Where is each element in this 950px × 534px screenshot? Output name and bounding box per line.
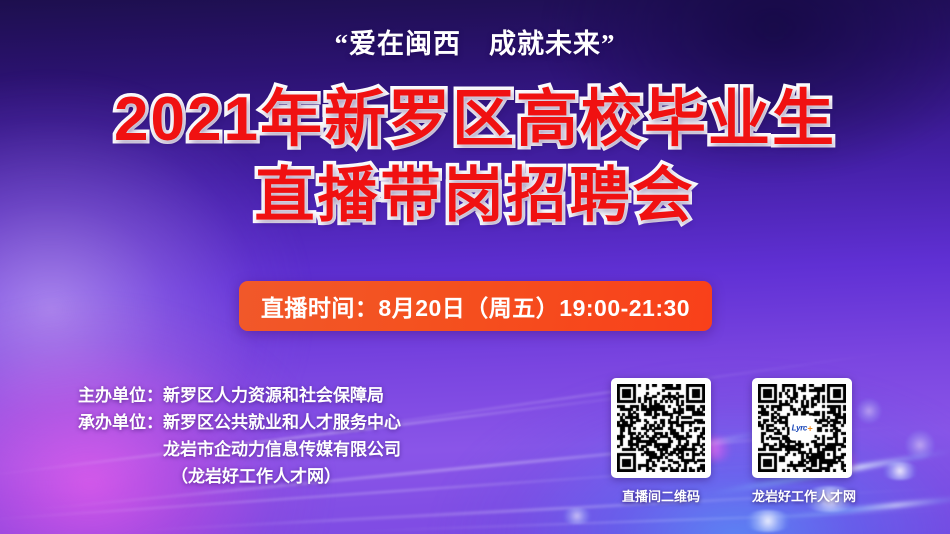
organizer-info: 主办单位：新罗区人力资源和社会保障局 承办单位：新罗区公共就业和人才服务中心 龙…	[78, 382, 401, 490]
poster-title-line-2: 直播带岗招聘会	[0, 158, 950, 234]
organizer-line-website: （龙岩好工作人才网）	[78, 463, 401, 490]
broadcast-time-banner: 直播时间：8月20日（周五）19:00-21:30	[239, 281, 712, 331]
qr-logo-text: Lyrc	[792, 424, 807, 433]
qr-code-image-jobsite[interactable]: Lyrc+	[752, 378, 852, 478]
organizer-line-host: 主办单位：新罗区人力资源和社会保障局	[78, 382, 401, 409]
qr-code-livestream[interactable]: 直播间二维码	[611, 378, 711, 505]
qr-center-logo-icon: Lyrc+	[791, 417, 814, 440]
qr-caption-jobsite: 龙岩好工作人才网	[752, 486, 852, 505]
qr-code-pattern	[617, 384, 705, 472]
qr-logo-dot: +	[807, 423, 812, 433]
organizer-line-company: 龙岩市企动力信息传媒有限公司	[78, 436, 401, 463]
organizer-line-coordinator: 承办单位：新罗区公共就业和人才服务中心	[78, 409, 401, 436]
qr-code-group: 直播间二维码 Lyrc+ 龙岩好工作人才网	[611, 378, 852, 505]
poster-canvas: “爱在闽西 成就未来” 2021年新罗区高校毕业生 直播带岗招聘会 直播时间：8…	[0, 0, 950, 534]
poster-title: 2021年新罗区高校毕业生 直播带岗招聘会	[0, 82, 950, 234]
qr-caption-livestream: 直播间二维码	[611, 486, 711, 505]
qr-code-image-livestream[interactable]	[611, 378, 711, 478]
poster-subtitle: “爱在闽西 成就未来”	[0, 22, 950, 61]
poster-title-line-1: 2021年新罗区高校毕业生	[0, 82, 950, 158]
qr-code-jobsite[interactable]: Lyrc+ 龙岩好工作人才网	[752, 378, 852, 505]
broadcast-time-text: 直播时间：8月20日（周五）19:00-21:30	[261, 289, 690, 323]
